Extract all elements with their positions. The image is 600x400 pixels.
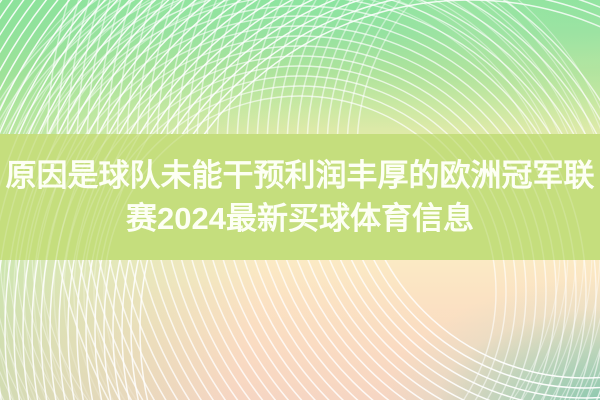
headline-band: 原因是球队未能干预利润丰厚的欧洲冠军联赛2024最新买球体育信息 bbox=[0, 134, 600, 260]
page-title: 原因是球队未能干预利润丰厚的欧洲冠军联赛2024最新买球体育信息 bbox=[0, 154, 600, 240]
banner-image: 原因是球队未能干预利润丰厚的欧洲冠军联赛2024最新买球体育信息 bbox=[0, 0, 600, 400]
